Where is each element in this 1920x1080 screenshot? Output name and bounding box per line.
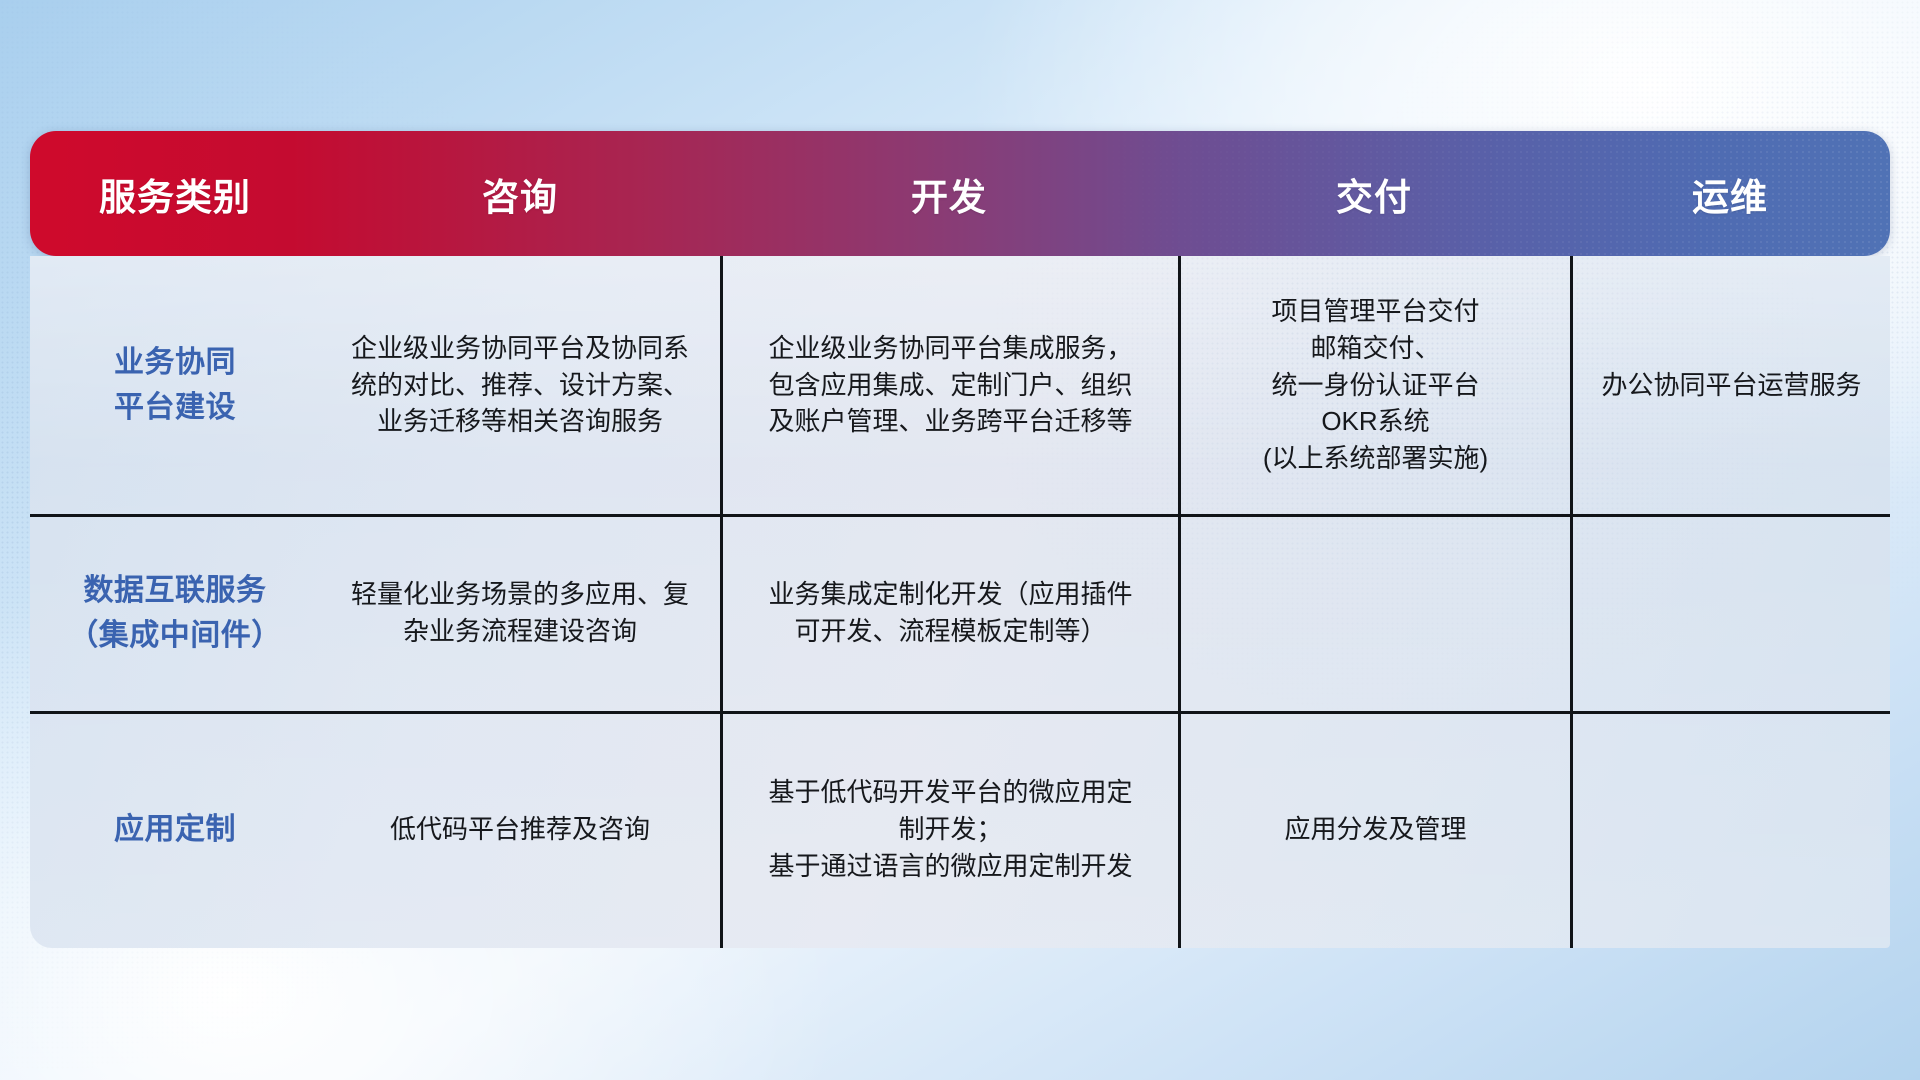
cell-development: 基于低代码开发平台的微应用定 制开发； 基于通过语言的微应用定制开发 (720, 711, 1178, 948)
row-divider (30, 711, 1890, 714)
table-header-row: 服务类别 咨询 开发 交付 运维 (30, 131, 1890, 256)
row-category-label: 业务协同 平台建设 (30, 256, 320, 514)
row-category-label: 数据互联服务 （集成中间件） (30, 514, 320, 711)
cell-development: 企业级业务协同平台集成服务， 包含应用集成、定制门户、组织 及账户管理、业务跨平… (720, 256, 1178, 514)
table-row: 应用定制 低代码平台推荐及咨询 基于低代码开发平台的微应用定 制开发； 基于通过… (30, 711, 1890, 948)
service-matrix-table: 服务类别 咨询 开发 交付 运维 业务协同 平台建设 企业级业务协同平台及协同系… (30, 131, 1890, 948)
table-row: 业务协同 平台建设 企业级业务协同平台及协同系 统的对比、推荐、设计方案、 业务… (30, 256, 1890, 514)
row-category-label: 应用定制 (30, 711, 320, 948)
column-header-operations: 运维 (1570, 167, 1890, 221)
cell-operations (1570, 711, 1890, 948)
cell-consulting: 轻量化业务场景的多应用、复 杂业务流程建设咨询 (320, 514, 720, 711)
cell-delivery (1178, 514, 1570, 711)
cell-delivery: 项目管理平台交付 邮箱交付、 统一身份认证平台 OKR系统 (以上系统部署实施) (1178, 256, 1570, 514)
table-body: 业务协同 平台建设 企业级业务协同平台及协同系 统的对比、推荐、设计方案、 业务… (30, 256, 1890, 948)
cell-development: 业务集成定制化开发（应用插件 可开发、流程模板定制等） (720, 514, 1178, 711)
cell-operations (1570, 514, 1890, 711)
column-header-service-category: 服务类别 (30, 167, 320, 221)
row-divider (30, 514, 1890, 517)
cell-delivery: 应用分发及管理 (1178, 711, 1570, 948)
cell-consulting: 企业级业务协同平台及协同系 统的对比、推荐、设计方案、 业务迁移等相关咨询服务 (320, 256, 720, 514)
table-row: 数据互联服务 （集成中间件） 轻量化业务场景的多应用、复 杂业务流程建设咨询 业… (30, 514, 1890, 711)
column-header-consulting: 咨询 (320, 167, 720, 221)
cell-operations: 办公协同平台运营服务 (1570, 256, 1890, 514)
column-header-delivery: 交付 (1178, 167, 1570, 221)
column-header-development: 开发 (720, 167, 1178, 221)
cell-consulting: 低代码平台推荐及咨询 (320, 711, 720, 948)
